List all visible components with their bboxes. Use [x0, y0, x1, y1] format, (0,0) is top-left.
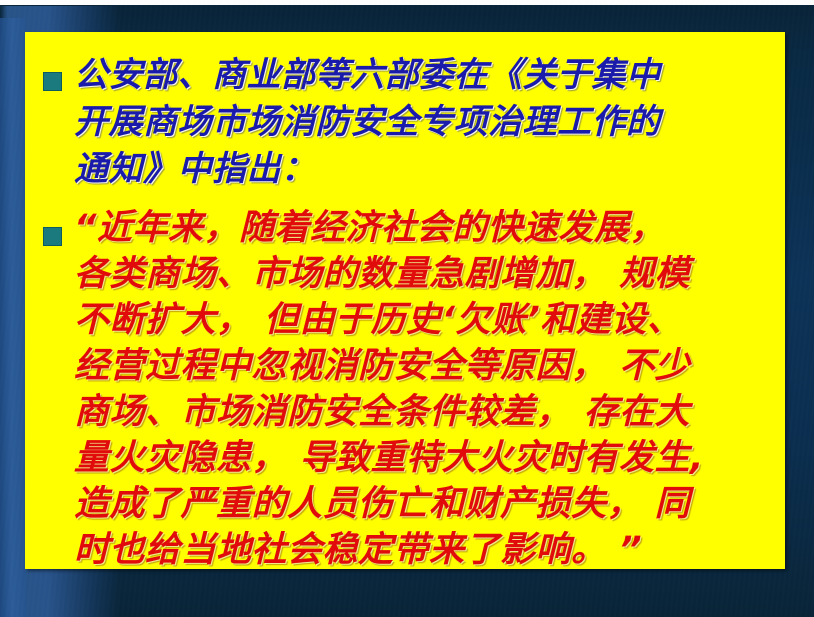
heading-line-3: 通知》中指出：: [74, 146, 777, 193]
bullet-item-quote: “近年来，随着经济社会的快速发展， 各类商场、市场的数量急剧增加， 规模 不断扩…: [35, 205, 777, 573]
yellow-content-panel: 公安部、商业部等六部委在《关于集中 开展商场市场消防安全专项治理工作的 通知》中…: [25, 32, 785, 569]
heading-line-2: 开展商场市场消防安全专项治理工作的: [74, 99, 777, 146]
slide-top-margin-strip: [0, 0, 814, 5]
quote-line-5: 商场、市场消防安全条件较差， 存在大: [74, 389, 777, 435]
bullet-item-heading: 公安部、商业部等六部委在《关于集中 开展商场市场消防安全专项治理工作的 通知》中…: [35, 52, 777, 193]
heading-paragraph: 公安部、商业部等六部委在《关于集中 开展商场市场消防安全专项治理工作的 通知》中…: [74, 52, 777, 193]
quote-line-6: 量火灾隐患， 导致重特大火灾时有发生,: [74, 435, 777, 481]
quote-line-1: “近年来，随着经济社会的快速发展，: [74, 205, 777, 251]
quote-paragraph: “近年来，随着经济社会的快速发展， 各类商场、市场的数量急剧增加， 规模 不断扩…: [74, 205, 777, 573]
quote-line-3: 不断扩大， 但由于历史‘欠账’和建设、: [74, 297, 777, 343]
slide-canvas: 公安部、商业部等六部委在《关于集中 开展商场市场消防安全专项治理工作的 通知》中…: [0, 0, 814, 617]
square-bullet-icon: [43, 227, 62, 246]
quote-line-8: 时也给当地社会稳定带来了影响。 ”: [74, 527, 777, 573]
quote-line-4: 经营过程中忽视消防安全等原因， 不少: [74, 343, 777, 389]
quote-line-2: 各类商场、市场的数量急剧增加， 规模: [74, 251, 777, 297]
quote-line-7: 造成了严重的人员伤亡和财产损失， 同: [74, 481, 777, 527]
heading-line-1: 公安部、商业部等六部委在《关于集中: [74, 52, 777, 99]
square-bullet-icon: [43, 72, 62, 91]
